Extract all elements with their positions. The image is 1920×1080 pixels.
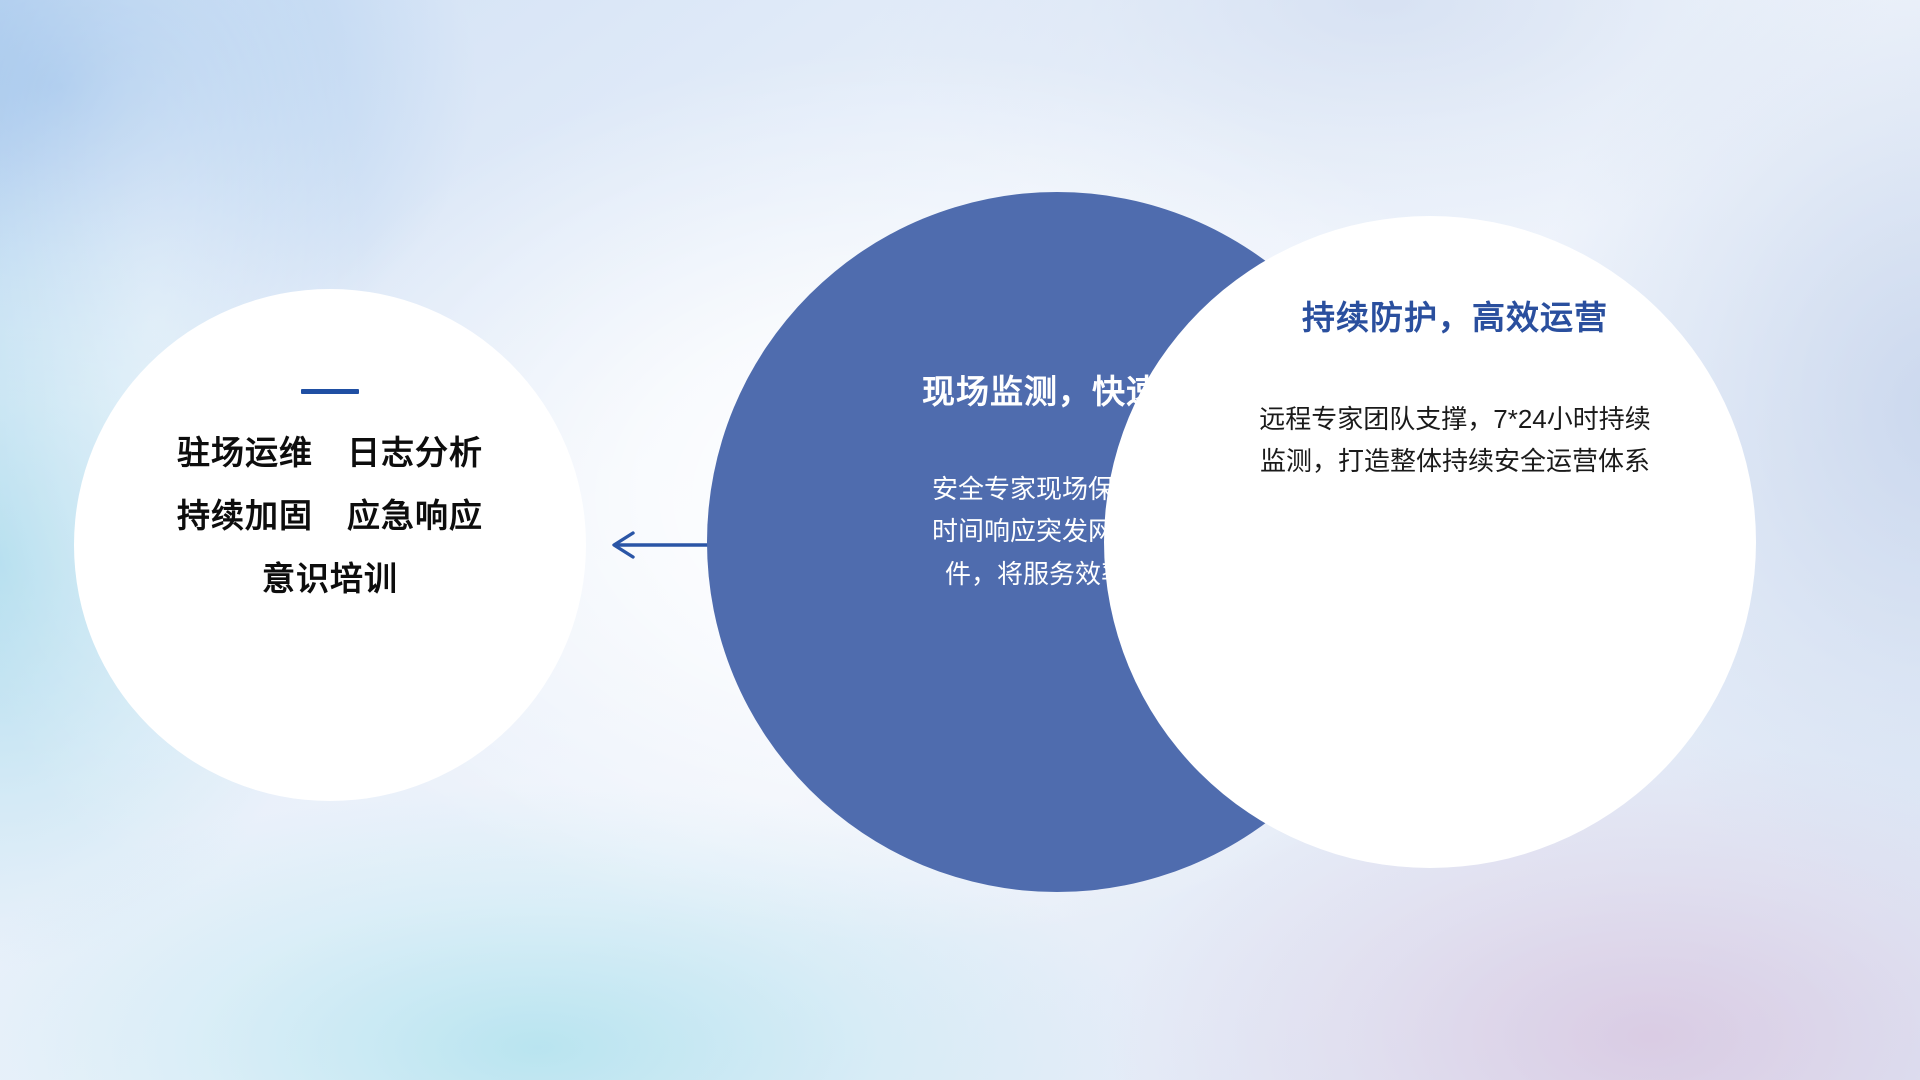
- slide-canvas: 现场监测，快速响应 安全专家现场保障，最短时间响应突发网络安全事件，将服务效率最…: [0, 0, 1920, 1080]
- service-tags-line-2: 持续加固 应急响应: [177, 499, 483, 532]
- continuous-protection-content: 持续防护，高效运营 远程专家团队支撑，7*24小时持续监测，打造整体持续安全运营…: [1104, 216, 1756, 868]
- driver-services-circle[interactable]: 驻场运维 日志分析 持续加固 应急响应 意识培训: [74, 289, 586, 801]
- continuous-protection-body: 远程专家团队支撑，7*24小时持续监测，打造整体持续安全运营体系: [1250, 398, 1660, 482]
- continuous-protection-circle[interactable]: 持续防护，高效运营 远程专家团队支撑，7*24小时持续监测，打造整体持续安全运营…: [1104, 216, 1756, 868]
- service-tags-line-1: 驻场运维 日志分析: [177, 436, 483, 469]
- continuous-protection-title: 持续防护，高效运营: [1302, 300, 1608, 336]
- divider-dash-icon: [301, 389, 359, 394]
- service-tags-line-3: 意识培训: [262, 562, 398, 595]
- driver-services-content: 驻场运维 日志分析 持续加固 应急响应 意识培训: [74, 289, 586, 801]
